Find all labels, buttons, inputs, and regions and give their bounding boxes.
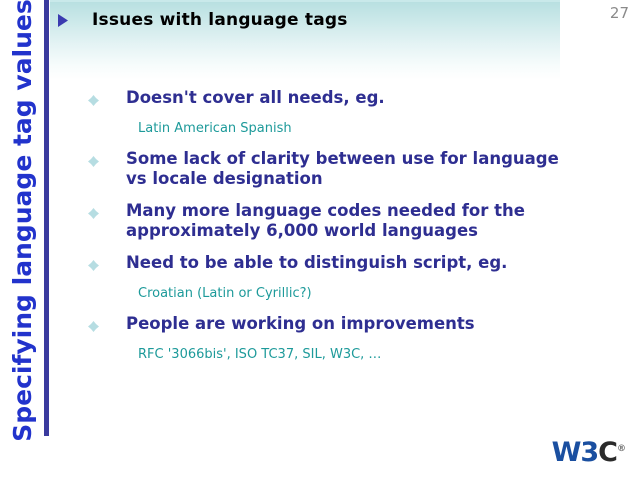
bullet-list: Doesn't cover all needs, eg. Latin Ameri… bbox=[88, 88, 568, 363]
spacer bbox=[88, 273, 568, 285]
sidebar-divider-rule bbox=[44, 0, 49, 436]
list-item-label: Some lack of clarity between use for lan… bbox=[126, 149, 568, 189]
spacer bbox=[88, 189, 568, 201]
w3c-logo-c: C bbox=[598, 437, 617, 468]
diamond-bullet-icon bbox=[88, 88, 126, 106]
spacer bbox=[88, 137, 568, 149]
list-item-sublabel: RFC '3066bis', ISO TC37, SIL, W3C, … bbox=[138, 346, 568, 363]
spacer bbox=[88, 334, 568, 346]
list-item: Some lack of clarity between use for lan… bbox=[88, 149, 568, 189]
list-item-label: Doesn't cover all needs, eg. bbox=[126, 88, 568, 108]
list-item-label: People are working on improvements bbox=[126, 314, 568, 334]
list-item: Need to be able to distinguish script, e… bbox=[88, 253, 568, 273]
page-number: 27 bbox=[610, 4, 629, 22]
triangle-right-icon bbox=[58, 14, 76, 27]
registered-trademark-icon: ® bbox=[617, 444, 626, 454]
sidebar-section-label-text: Specifying language tag values bbox=[10, 0, 35, 441]
spacer bbox=[88, 108, 568, 120]
list-item-label: Many more language codes needed for the … bbox=[126, 201, 568, 241]
list-item: Doesn't cover all needs, eg. bbox=[88, 88, 568, 108]
spacer bbox=[88, 302, 568, 314]
sidebar-section-label: Specifying language tag values bbox=[0, 0, 44, 440]
list-item: Many more language codes needed for the … bbox=[88, 201, 568, 241]
diamond-bullet-icon bbox=[88, 149, 126, 167]
w3c-logo-w3: W3 bbox=[552, 437, 599, 468]
slide-title-row: Issues with language tags bbox=[52, 6, 562, 34]
list-item-sublabel: Latin American Spanish bbox=[138, 120, 568, 137]
page-title: Issues with language tags bbox=[92, 10, 348, 30]
diamond-bullet-icon bbox=[88, 201, 126, 219]
diamond-bullet-icon bbox=[88, 314, 126, 332]
w3c-logo: W3C® bbox=[552, 439, 626, 466]
list-item: People are working on improvements bbox=[88, 314, 568, 334]
slide-canvas: Specifying language tag values Issues wi… bbox=[0, 0, 640, 480]
title-band-top-rule bbox=[50, 0, 560, 2]
spacer bbox=[88, 241, 568, 253]
list-item-label: Need to be able to distinguish script, e… bbox=[126, 253, 568, 273]
diamond-bullet-icon bbox=[88, 253, 126, 271]
list-item-sublabel: Croatian (Latin or Cyrillic?) bbox=[138, 285, 568, 302]
